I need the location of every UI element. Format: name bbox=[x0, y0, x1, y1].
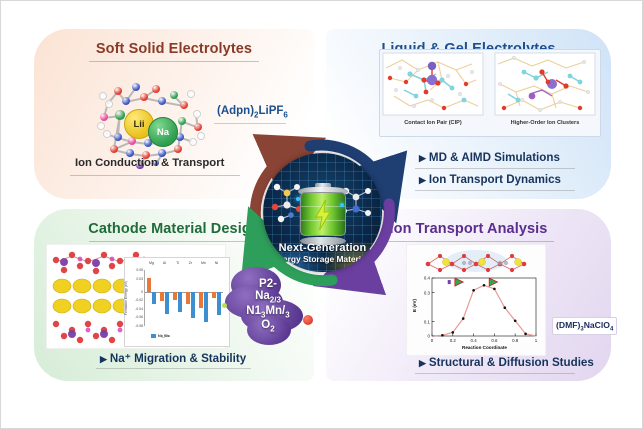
bar bbox=[165, 292, 169, 314]
atom bbox=[189, 138, 198, 147]
bar bbox=[173, 292, 177, 300]
energy-plot-y-label: 0.1 bbox=[410, 319, 430, 324]
battery-icon bbox=[298, 183, 348, 243]
atom bbox=[97, 122, 105, 130]
title-underline bbox=[384, 241, 554, 242]
title-underline bbox=[89, 241, 259, 242]
triangle-bullet-icon: ▶ bbox=[419, 175, 426, 185]
bar-chart-y-label: -0.08 bbox=[126, 324, 143, 328]
atom bbox=[158, 97, 166, 105]
panel-title-soft-solid: Soft Solid Electrolytes bbox=[34, 41, 314, 57]
bar bbox=[199, 292, 203, 308]
cathode-composition-blob: P2- Na2/3 N13Mn/3 O2 bbox=[225, 263, 311, 349]
hub-title-line1: Next-Generation bbox=[263, 242, 382, 254]
energy-barrier-svg bbox=[406, 270, 546, 356]
energy-plot-x-label: 0.4 bbox=[471, 338, 477, 343]
battery-hub-core: Next-Generation Energy Storage Materials bbox=[263, 153, 382, 272]
graphical-abstract-canvas: Soft Solid Electrolytes LiiNa (Adpn)2LiP… bbox=[0, 0, 643, 429]
bullet-underline bbox=[96, 368, 251, 369]
atom bbox=[194, 123, 202, 131]
bar bbox=[147, 278, 151, 292]
atom bbox=[197, 132, 205, 140]
atom bbox=[99, 92, 107, 100]
bar bbox=[186, 292, 190, 304]
energy-plot-x-label: 0.8 bbox=[512, 338, 518, 343]
bullet-underline bbox=[415, 190, 575, 191]
atom bbox=[187, 90, 195, 98]
legend-label: Ni_Mn bbox=[158, 334, 169, 338]
atom bbox=[152, 85, 160, 93]
md-snapshot-container: Contact Ion Pair (CIP) Higher-Order Ion … bbox=[379, 49, 601, 137]
bar-chart-x-label: Ni bbox=[215, 261, 218, 265]
energy-plot-y-label: 0.4 bbox=[410, 276, 430, 281]
bar-chart-y-axis bbox=[144, 270, 145, 326]
energy-plot-y-label: 0.3 bbox=[410, 290, 430, 295]
energy-barrier-plot-area: 00.20.40.60.8100.10.30.4Reaction Coordin… bbox=[406, 270, 546, 356]
snapshot-label-cip: Contact Ion Pair (CIP) bbox=[383, 120, 483, 126]
hub-caption: Next-Generation Energy Storage Materials bbox=[263, 242, 382, 264]
indicator-light bbox=[296, 197, 300, 201]
bar bbox=[160, 292, 164, 301]
bullet-na-migration: ▶Na⁺ Migration & Stability bbox=[100, 351, 246, 365]
lightning-bolt-icon bbox=[313, 199, 333, 231]
energy-plot-x-label: 0 bbox=[431, 338, 433, 343]
energy-barrier-chart: 00.20.40.60.8100.10.30.4Reaction Coordin… bbox=[406, 244, 546, 356]
bar-chart-y-label: 0.03 bbox=[126, 277, 143, 281]
bar bbox=[204, 292, 208, 323]
bar-chart-y-label: -0.04 bbox=[126, 307, 143, 311]
atom bbox=[110, 145, 118, 153]
bullet-underline bbox=[415, 168, 575, 169]
ion-label-na: Na bbox=[148, 117, 178, 147]
bar bbox=[178, 292, 182, 312]
energy-plot-y-title: E (eV) bbox=[412, 299, 417, 312]
energy-plot-x-label: 0.6 bbox=[491, 338, 497, 343]
bar-chart-x-label: Al bbox=[163, 261, 166, 265]
triangle-bullet-icon: ▶ bbox=[419, 153, 426, 163]
bar bbox=[212, 292, 216, 299]
energy-plot-x-title: Reaction Coordinate bbox=[462, 345, 507, 350]
bullet-structural-diffusion: ▶Structural & Diffusion Studies bbox=[419, 356, 594, 369]
bar-chart-x-label: Zr bbox=[189, 261, 192, 265]
energy-plot-y-label: 0 bbox=[410, 334, 430, 339]
bar-chart-y-label: -0.02 bbox=[126, 298, 143, 302]
atom bbox=[114, 133, 122, 141]
bar bbox=[191, 292, 195, 319]
bar-chart-x-label: Mg bbox=[149, 261, 154, 265]
bar-chart-x-label: Ti bbox=[176, 261, 179, 265]
formula-underline bbox=[214, 123, 286, 124]
energy-plot-x-label: 0.2 bbox=[450, 338, 456, 343]
bar-chart-plot-area: MgAlTiZrMnNi0.050.030-0.02-0.04-0.06-0.0… bbox=[145, 270, 223, 326]
caption-ion-conduction: Ion Conduction & Transport bbox=[75, 157, 224, 169]
bar-chart-x-label: Mn bbox=[201, 261, 206, 265]
bar-chart-y-label: 0 bbox=[126, 290, 143, 294]
atom bbox=[140, 93, 148, 101]
bar-chart-y-axis-title: Formation Energy (eV) bbox=[124, 281, 128, 315]
caption-underline bbox=[70, 175, 240, 176]
dopant-formation-energy-chart: MgAlTiZrMnNi0.050.030-0.02-0.04-0.06-0.0… bbox=[124, 257, 230, 347]
atom bbox=[132, 83, 140, 91]
bar-chart-y-label: -0.06 bbox=[126, 315, 143, 319]
bullet-underline bbox=[415, 373, 575, 374]
atom bbox=[180, 101, 188, 109]
atom bbox=[103, 130, 112, 139]
atom bbox=[100, 113, 108, 121]
indicator-light bbox=[340, 203, 344, 207]
triangle-bullet-icon: ▶ bbox=[100, 354, 107, 364]
energy-plot-x-label: 1 bbox=[535, 338, 537, 343]
bar bbox=[152, 292, 156, 305]
bar-chart-legend-item: Ni_Mn bbox=[151, 334, 169, 338]
atom bbox=[170, 91, 178, 99]
atom bbox=[122, 97, 130, 105]
bullet-md-aimd: ▶MD & AIMD Simulations bbox=[419, 151, 560, 164]
legend-swatch bbox=[151, 334, 156, 338]
bullet-ion-transport-dynamics: ▶Ion Transport Dynamics bbox=[419, 173, 561, 186]
title-underline bbox=[89, 61, 259, 62]
atom bbox=[158, 149, 166, 157]
bar bbox=[217, 292, 221, 315]
snapshot-label-clusters: Higher-Order Ion Clusters bbox=[495, 120, 595, 126]
atom bbox=[126, 149, 134, 157]
atom bbox=[105, 100, 114, 109]
formula-tag-dmf-naclo4: (DMF)3NaClO4 bbox=[552, 317, 617, 335]
atom bbox=[193, 110, 202, 119]
atom bbox=[174, 145, 182, 153]
atom bbox=[115, 110, 124, 119]
triangle-bullet-icon: ▶ bbox=[419, 358, 426, 368]
blob-formula-text: P2- Na2/3 N13Mn/3 O2 bbox=[225, 263, 311, 349]
bar-chart-y-label: 0.05 bbox=[126, 268, 143, 272]
formula-adpn-lipf6: (Adpn)2LiPF6 bbox=[217, 105, 288, 119]
